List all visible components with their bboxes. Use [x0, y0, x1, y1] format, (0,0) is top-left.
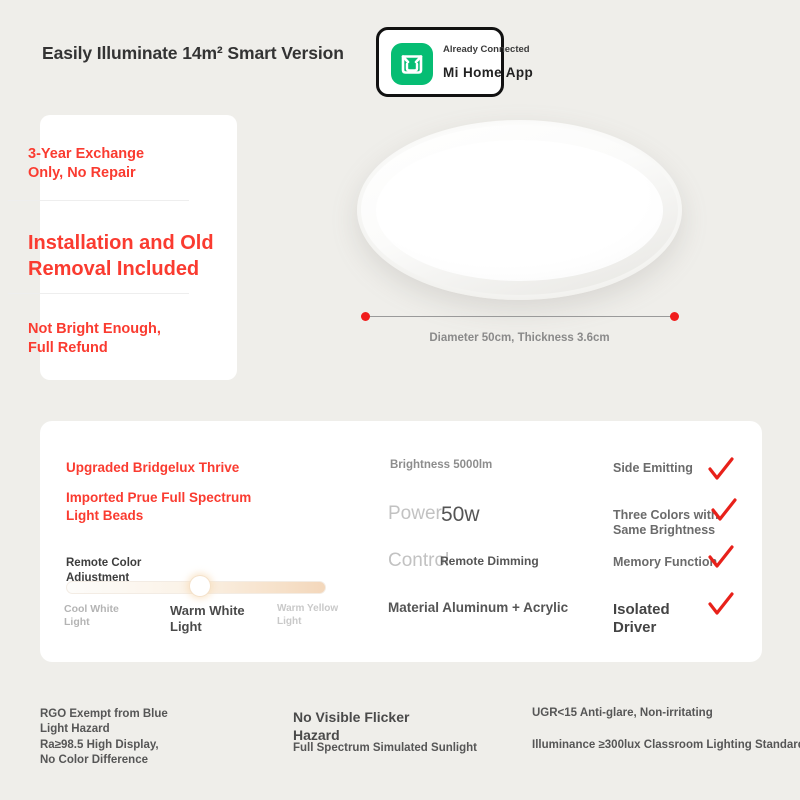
dimension-line — [366, 316, 673, 317]
spec-material-value: Aluminum + Acrylic — [442, 600, 568, 615]
slider-tick-cool-white: Cool White Light — [64, 603, 119, 629]
check-icon — [707, 457, 735, 483]
slider-tick-warm-yellow: Warm Yellow Light — [277, 603, 338, 628]
spec-power-value: 50w — [441, 503, 480, 527]
mi-home-logo-icon — [391, 43, 433, 85]
feature-three-colors: Three Colors with Same Brightness — [613, 508, 719, 538]
guarantee-item-exchange: 3-Year Exchange Only, No Repair — [28, 145, 144, 182]
check-icon — [710, 498, 738, 524]
spec-material: Material Aluminum + Acrylic — [388, 600, 568, 615]
spec-material-key: Material — [388, 600, 442, 615]
check-icon — [707, 592, 735, 618]
color-temperature-slider-handle[interactable] — [190, 576, 210, 596]
bottom-feature-no-flicker: No Visible Flicker Hazard — [293, 708, 409, 745]
lamp-highlight — [397, 144, 597, 204]
dimension-endpoint-right-icon — [670, 312, 679, 321]
guarantee-divider — [8, 200, 189, 201]
product-image-ceiling-lamp — [357, 120, 682, 300]
guarantee-item-refund: Not Bright Enough, Full Refund — [28, 320, 161, 357]
slider-tick-warm-white: Warm White Light — [170, 603, 245, 636]
bottom-feature-illuminance: Illuminance ≥300lux Classroom Lighting S… — [532, 738, 800, 753]
mi-home-badge-text: Already Connected Mi Home App — [443, 43, 563, 83]
mi-home-app-badge[interactable]: Already Connected Mi Home App — [376, 27, 504, 97]
spec-highlight-bridgelux: Upgraded Bridgelux Thrive — [66, 459, 239, 477]
spec-brightness-value: 5000lm — [453, 459, 492, 471]
check-icon — [707, 545, 735, 571]
spec-brightness-key: Brightness — [390, 459, 453, 471]
app-name-label: Mi Home App — [443, 63, 563, 83]
feature-side-emitting: Side Emitting — [613, 461, 693, 476]
spec-control-value: Remote Dimming — [440, 554, 539, 568]
connection-status-label: Already Connected — [443, 43, 563, 56]
guarantee-divider — [8, 293, 189, 294]
spec-brightness: Brightness 5000lm — [390, 459, 492, 471]
product-detail-page: Easily Illuminate 14m² Smart Version Alr… — [0, 0, 800, 800]
dimension-caption: Diameter 50cm, Thickness 3.6cm — [357, 332, 682, 344]
dimension-endpoint-left-icon — [361, 312, 370, 321]
bottom-feature-anti-glare: UGR<15 Anti-glare, Non-irritating — [532, 706, 713, 721]
feature-memory-function: Memory Function — [613, 555, 717, 570]
feature-isolated-driver: Isolated Driver — [613, 601, 670, 637]
bottom-feature-blue-light: RGO Exempt from Blue Light Hazard — [40, 707, 168, 737]
guarantee-item-installation: Installation and Old Removal Included — [28, 231, 214, 282]
bottom-feature-high-cri: Ra≥98.5 High Display, No Color Differenc… — [40, 738, 159, 768]
spec-highlight-light-beads: Imported Prue Full Spectrum Light Beads — [66, 489, 251, 525]
page-title: Easily Illuminate 14m² Smart Version — [42, 43, 344, 64]
spec-power-key: Power — [388, 503, 442, 525]
bottom-feature-full-spectrum: Full Spectrum Simulated Sunlight — [293, 741, 477, 756]
